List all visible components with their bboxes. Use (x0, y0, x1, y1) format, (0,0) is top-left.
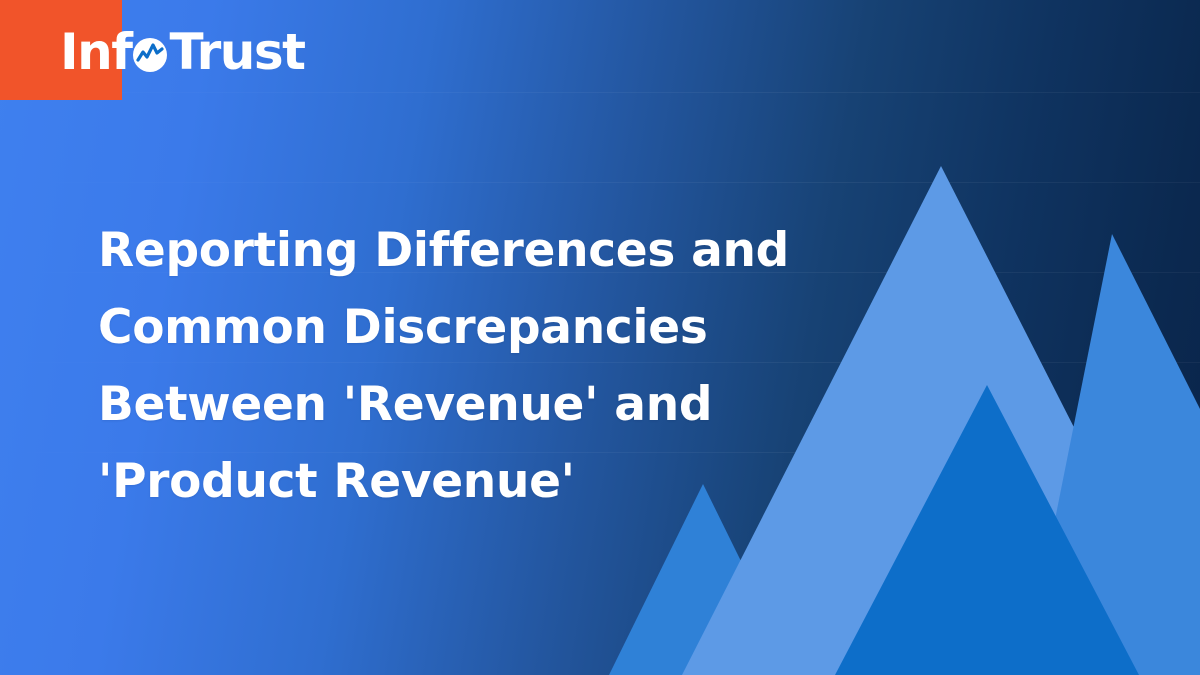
peak-center-dark (835, 385, 1139, 675)
title-slide: InfTrust Reporting Differences and Commo… (0, 0, 1200, 675)
gridline (0, 182, 1200, 183)
line-chart-circle-icon (131, 36, 169, 79)
page-title: Reporting Differences and Common Discrep… (98, 212, 858, 520)
wordmark-trust: Trust (169, 27, 304, 77)
wordmark-inf: Inf (60, 27, 131, 77)
title-line-2: Common Discrepancies (98, 289, 858, 366)
title-line-4: 'Product Revenue' (98, 443, 858, 520)
gridline (0, 92, 1200, 93)
title-line-1: Reporting Differences and (98, 212, 858, 289)
brand-wordmark[interactable]: InfTrust (60, 23, 304, 81)
peak-right (1024, 234, 1200, 675)
title-line-3: Between 'Revenue' and (98, 366, 858, 443)
